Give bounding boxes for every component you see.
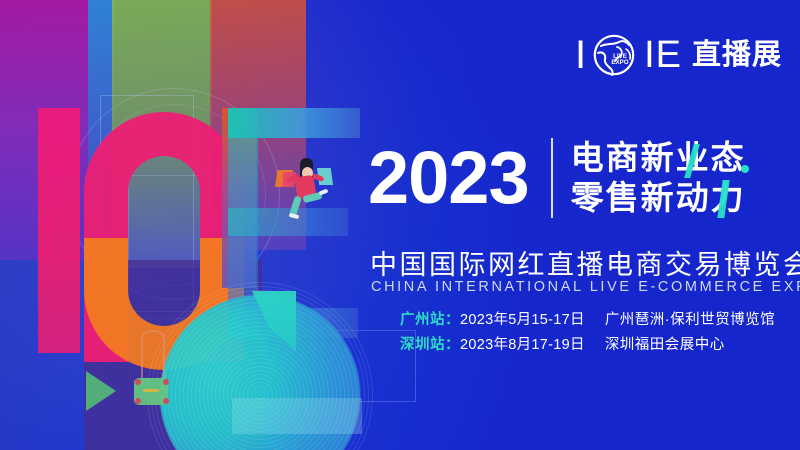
venue-city: 广州站：: [400, 308, 460, 329]
basket-handle: [141, 330, 165, 384]
venue-place: 广州琶洲·保利世贸博览馆: [605, 308, 775, 329]
venue-row: 深圳站： 2023年8月17-19日 深圳福田会展中心: [400, 333, 775, 354]
letter-i-magenta: [38, 108, 80, 353]
pale-overlay-bar: [232, 398, 362, 434]
play-triangle-icon: [86, 371, 116, 411]
basket-corner-dot: [163, 379, 169, 385]
headline-row: 2023 电商新业态 零售新动力: [368, 138, 746, 218]
slogan-line-2: 零售新动力: [571, 180, 746, 217]
promotional-banner: I LIVE EXPO IE 直播展 2023 电商: [0, 0, 800, 450]
basket-corner-dot: [163, 398, 169, 404]
logo-chinese-suffix: 直播展: [692, 41, 782, 70]
running-shopper-illustration: [274, 158, 334, 224]
slogan-accent-dot: [741, 165, 749, 173]
basket-corner-dot: [135, 379, 141, 385]
venue-date: 2023年5月15-17日: [460, 308, 585, 329]
shopper-shoe-front: [319, 189, 329, 196]
headline-divider: [551, 138, 553, 218]
venue-list: 广州站： 2023年5月15-17日 广州琶洲·保利世贸博览馆 深圳站： 202…: [400, 308, 775, 354]
venue-place: 深圳福田会展中心: [605, 333, 725, 354]
logo-letters-ie: IE: [644, 36, 682, 74]
globe-icon: LIVE EXPO: [592, 33, 636, 77]
slogan-block: 电商新业态 零售新动力: [571, 140, 746, 217]
subtitle-english: CHINA INTERNATIONAL LIVE E-COMMERCE EXPO: [371, 279, 800, 295]
basket-corner-dot: [135, 398, 141, 404]
subtitle-chinese: 中国国际网红直播电商交易博览会: [370, 243, 800, 282]
logo-letter-i: I: [575, 35, 586, 75]
venue-row: 广州站： 2023年5月15-17日 广州琶洲·保利世贸博览馆: [400, 308, 775, 329]
expo-logo: I LIVE EXPO IE 直播展: [575, 33, 782, 77]
letter-e-bar-top: [228, 108, 360, 138]
shopper-shoe-back: [289, 213, 300, 219]
globe-expo-text: EXPO: [611, 59, 628, 66]
venue-date: 2023年8月17-19日: [460, 333, 585, 354]
year-label: 2023: [368, 145, 529, 212]
slogan-line-1: 电商新业态: [571, 140, 746, 177]
content-column: I LIVE EXPO IE 直播展 2023 电商: [368, 0, 800, 450]
basket-slot: [143, 389, 159, 392]
slogan-line-1-text: 电商新业态: [571, 139, 746, 176]
icie-letterform-artwork: [0, 80, 360, 450]
venue-city: 深圳站：: [400, 333, 460, 354]
